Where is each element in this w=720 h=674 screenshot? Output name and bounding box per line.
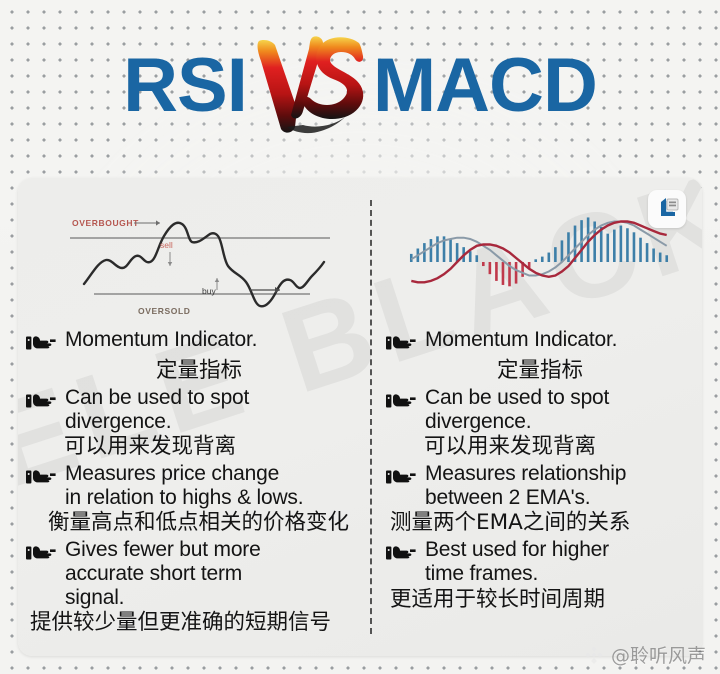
page-title: RSI VS MACD bbox=[0, 0, 720, 172]
list-item-label-line2: in relation to highs & lows. bbox=[65, 486, 303, 510]
macd-bar bbox=[652, 249, 655, 263]
macd-bar bbox=[495, 262, 498, 281]
pointing-hand-icon bbox=[386, 333, 420, 357]
list-item-label-group: Measures relationship between 2 EMA's. bbox=[425, 462, 626, 509]
author-watermark: @聆听风声 bbox=[584, 641, 706, 668]
macd-bar bbox=[620, 226, 623, 262]
list-item: Measures relationship between 2 EMA's. bbox=[386, 462, 694, 509]
rsi-oscillator-chart: OVERBOUGHT sell buy OVERSOLD bbox=[42, 196, 352, 318]
list-item: Best used for higher time frames. bbox=[386, 538, 694, 585]
macd-bar bbox=[646, 243, 649, 262]
macd-bar bbox=[593, 222, 596, 263]
pointing-hand-icon bbox=[386, 391, 420, 415]
macd-bar bbox=[469, 251, 472, 262]
list-item: Momentum Indicator. bbox=[26, 328, 372, 357]
list-item-label: Can be used to spot bbox=[65, 386, 249, 410]
list-item-label-line2: time frames. bbox=[425, 562, 609, 586]
macd-bar bbox=[639, 238, 642, 262]
list-item-cn: 提供较少量但更准确的短期信号 bbox=[26, 610, 372, 636]
macd-bar bbox=[659, 253, 662, 262]
macd-bar bbox=[633, 232, 636, 262]
macd-bar bbox=[613, 230, 616, 262]
macd-bar bbox=[430, 239, 433, 262]
diamond-logo-icon bbox=[584, 645, 604, 665]
macd-bar bbox=[541, 257, 544, 262]
list-item-cn: 衡量高点和低点相关的价格变化 bbox=[26, 510, 372, 536]
list-item-cn: 定量指标 bbox=[386, 358, 694, 384]
list-item-label-group: Can be used to spot divergence. bbox=[65, 386, 249, 433]
buy-label: buy bbox=[202, 286, 216, 296]
macd-bars bbox=[410, 217, 668, 286]
list-item-label-group: Measures price change in relation to hig… bbox=[65, 462, 303, 509]
list-item: Can be used to spot divergence. bbox=[386, 386, 694, 433]
macd-feature-list: Momentum Indicator. 定量指标 Can be used to … bbox=[386, 328, 694, 615]
pointing-hand-icon bbox=[386, 467, 420, 491]
title-rsi: RSI bbox=[123, 48, 247, 124]
macd-bar bbox=[436, 236, 439, 262]
pointing-hand-icon bbox=[386, 543, 420, 567]
macd-bar bbox=[561, 240, 564, 262]
list-item: Momentum Indicator. bbox=[386, 328, 694, 357]
list-item-label: Gives fewer but more bbox=[65, 538, 261, 562]
list-item-cn: 更适用于较长时间周期 bbox=[386, 587, 694, 613]
list-item-label-group: Best used for higher time frames. bbox=[425, 538, 609, 585]
macd-bar bbox=[449, 239, 452, 262]
oversold-label: OVERSOLD bbox=[138, 306, 191, 316]
list-item-label: Measures price change bbox=[65, 462, 303, 486]
macd-bar bbox=[554, 247, 557, 262]
macd-bar bbox=[482, 262, 485, 266]
macd-bar bbox=[534, 259, 537, 262]
rsi-feature-list: Momentum Indicator. 定量指标 Can be used to … bbox=[26, 328, 372, 638]
macd-bar bbox=[665, 255, 668, 262]
list-item-label-line2: accurate short term bbox=[65, 562, 261, 586]
list-item: Can be used to spot divergence. bbox=[26, 386, 372, 433]
title-macd: MACD bbox=[373, 48, 597, 124]
pointing-hand-icon bbox=[26, 333, 60, 357]
list-item-cn: 测量两个EMA之间的关系 bbox=[386, 510, 694, 536]
sell-label: sell bbox=[160, 240, 173, 250]
list-item-label-group: Gives fewer but more accurate short term… bbox=[65, 538, 261, 609]
list-item-label: Can be used to spot bbox=[425, 386, 609, 410]
macd-bar bbox=[475, 255, 478, 262]
overbought-label: OVERBOUGHT bbox=[72, 218, 139, 228]
macd-bar bbox=[606, 234, 609, 262]
list-item-label-line2: between 2 EMA's. bbox=[425, 486, 626, 510]
macd-histogram-chart bbox=[400, 196, 678, 318]
list-item-label-line2: divergence. bbox=[425, 410, 609, 434]
pointing-hand-icon bbox=[26, 543, 60, 567]
macd-bar bbox=[489, 262, 492, 274]
macd-bar bbox=[548, 253, 551, 262]
macd-bar bbox=[600, 227, 603, 262]
list-item-cn: 可以用来发现背离 bbox=[26, 434, 372, 460]
pointing-hand-icon bbox=[26, 391, 60, 415]
list-item-label: Measures relationship bbox=[425, 462, 626, 486]
list-item-label-line3: signal. bbox=[65, 586, 261, 610]
vs-brush-icon bbox=[251, 31, 369, 141]
macd-bar bbox=[626, 228, 629, 262]
list-item-label: Best used for higher bbox=[425, 538, 609, 562]
list-item-cn: 定量指标 bbox=[26, 358, 372, 384]
macd-bar bbox=[502, 262, 505, 285]
list-item: Gives fewer but more accurate short term… bbox=[26, 538, 372, 609]
macd-svg bbox=[400, 196, 678, 318]
macd-bar bbox=[515, 262, 518, 284]
vs-brush-badge: VS bbox=[251, 31, 369, 141]
macd-bar bbox=[456, 243, 459, 262]
pointing-hand-icon bbox=[26, 467, 60, 491]
list-item-cn: 可以用来发现背离 bbox=[386, 434, 694, 460]
list-item-label: Momentum Indicator. bbox=[425, 328, 617, 352]
list-item: Measures price change in relation to hig… bbox=[26, 462, 372, 509]
list-item-label: Momentum Indicator. bbox=[65, 328, 257, 352]
content-card: ELE BLACK COMMODITY OVERBOUGHT sell bbox=[18, 178, 702, 656]
list-item-label-group: Can be used to spot divergence. bbox=[425, 386, 609, 433]
author-name: @聆听风声 bbox=[611, 641, 706, 668]
list-item-label-line2: divergence. bbox=[65, 410, 249, 434]
